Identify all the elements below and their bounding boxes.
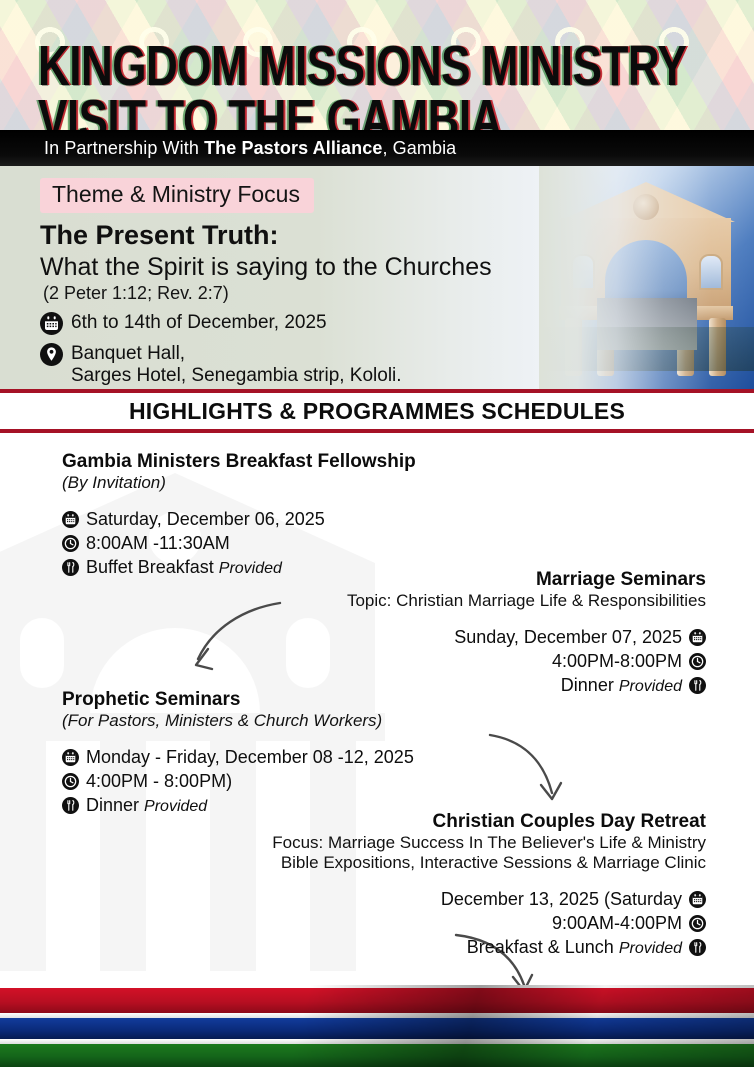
flyer-title-line-1: KINGDOM MISSIONS MINISTRY [38, 40, 686, 94]
programme-time: 9:00AM-4:00PM [552, 913, 682, 934]
clock-icon [689, 915, 706, 932]
partnership-text: In Partnership With The Pastors Alliance… [44, 138, 456, 159]
programme-title: Marriage Seminars [347, 569, 706, 591]
programme-date: Sunday, December 07, 2025 [454, 627, 682, 648]
cutlery-icon [689, 939, 706, 956]
calendar-icon [62, 749, 79, 766]
theme-venue-row: Banquet Hall,Sarges Hotel, Senegambia st… [40, 343, 492, 387]
clock-icon [689, 653, 706, 670]
programme-date-row: Monday - Friday, December 08 -12, 2025 [62, 747, 414, 768]
flag-fabric-shading [0, 985, 754, 1067]
programme-time: 4:00PM-8:00PM [552, 651, 682, 672]
calendar-icon [689, 891, 706, 908]
theme-date: 6th to 14th of December, 2025 [71, 312, 327, 334]
theme-venue: Banquet Hall,Sarges Hotel, Senegambia st… [71, 343, 402, 387]
arch22-photo [539, 166, 754, 389]
event-flyer: KINGDOM MISSIONS MINISTRY VISIT TO THE G… [0, 0, 754, 1080]
calendar-icon [689, 629, 706, 646]
programme-date-row: December 13, 2025 (Saturday [272, 889, 706, 910]
meal-note: Provided [219, 560, 282, 577]
curved-arrow-icon [486, 729, 596, 819]
programme-meal: Dinner Provided [561, 675, 682, 696]
clock-icon [62, 773, 79, 790]
partnership-prefix: In Partnership With [44, 138, 204, 158]
programme-date: Monday - Friday, December 08 -12, 2025 [86, 747, 414, 768]
programme-block-couples-retreat: Christian Couples Day Retreat Focus: Mar… [272, 811, 706, 958]
programme-block-breakfast-fellowship: Gambia Ministers Breakfast Fellowship (B… [62, 451, 416, 578]
programme-title: Christian Couples Day Retreat [272, 811, 706, 833]
programme-block-marriage-seminars: Marriage Seminars Topic: Christian Marri… [347, 569, 706, 696]
clock-icon [62, 535, 79, 552]
flyer-title-line-2: VISIT TO THE GAMBIA [38, 94, 686, 130]
programme-title: Gambia Ministers Breakfast Fellowship [62, 451, 416, 473]
meal-label: Buffet Breakfast [86, 557, 214, 577]
cutlery-icon [62, 559, 79, 576]
flyer-header: KINGDOM MISSIONS MINISTRY VISIT TO THE G… [0, 0, 754, 130]
theme-badge: Theme & Ministry Focus [40, 178, 314, 213]
programme-subtitle: Topic: Christian Marriage Life & Respons… [347, 591, 706, 611]
partnership-bar: In Partnership With The Pastors Alliance… [0, 130, 754, 166]
photo-fade-overlay [539, 166, 754, 389]
venue-line-1: Banquet Hall, [71, 343, 185, 364]
programme-time-row: 9:00AM-4:00PM [272, 913, 706, 934]
meal-note: Provided [619, 678, 682, 695]
cutlery-icon [62, 797, 79, 814]
section-header: HIGHLIGHTS & PROGRAMMES SCHEDULES [0, 393, 754, 429]
programme-time: 8:00AM -11:30AM [86, 533, 230, 554]
programme-date: Saturday, December 06, 2025 [86, 509, 325, 530]
theme-panel: Theme & Ministry Focus The Present Truth… [0, 166, 754, 389]
programme-subtitle-secondary: Bible Expositions, Interactive Sessions … [272, 853, 706, 873]
programme-subtitle: Focus: Marriage Success In The Believer'… [272, 833, 706, 853]
flyer-title: KINGDOM MISSIONS MINISTRY VISIT TO THE G… [38, 40, 686, 130]
programme-subtitle: (By Invitation) [62, 473, 416, 493]
programme-time-row: 8:00AM -11:30AM [62, 533, 416, 554]
cutlery-icon [689, 677, 706, 694]
calendar-icon [62, 511, 79, 528]
gambia-flag-footer [0, 985, 754, 1067]
meal-label: Dinner [86, 795, 139, 815]
theme-scripture-reference: (2 Peter 1:12; Rev. 2:7) [43, 283, 492, 304]
programme-meal: Dinner Provided [86, 795, 207, 816]
meal-label: Dinner [561, 675, 614, 695]
programme-time: 4:00PM - 8:00PM) [86, 771, 232, 792]
programmes-body: Gambia Ministers Breakfast Fellowship (B… [0, 433, 754, 985]
programme-time-row: 4:00PM - 8:00PM) [62, 771, 414, 792]
map-pin-icon [40, 343, 63, 366]
programme-blocks: Gambia Ministers Breakfast Fellowship (B… [0, 433, 754, 985]
curved-arrow-icon [180, 597, 290, 682]
theme-content: Theme & Ministry Focus The Present Truth… [40, 178, 492, 387]
calendar-icon [40, 312, 63, 335]
venue-line-2: Sarges Hotel, Senegambia strip, Kololi. [71, 365, 402, 386]
theme-heading: The Present Truth: [40, 220, 492, 251]
programme-date: December 13, 2025 (Saturday [441, 889, 682, 910]
programme-meal: Buffet Breakfast Provided [86, 557, 282, 578]
partnership-organisation: The Pastors Alliance [204, 138, 382, 158]
programme-time-row: 4:00PM-8:00PM [347, 651, 706, 672]
meal-note: Provided [144, 798, 207, 815]
programme-date-row: Saturday, December 06, 2025 [62, 509, 416, 530]
theme-subheading: What the Spirit is saying to the Churche… [40, 253, 492, 282]
theme-date-row: 6th to 14th of December, 2025 [40, 312, 492, 335]
programme-meal-row: Breakfast & Lunch Provided [272, 937, 706, 958]
section-title: HIGHLIGHTS & PROGRAMMES SCHEDULES [129, 398, 625, 425]
partnership-suffix: , Gambia [382, 138, 456, 158]
meal-note: Provided [619, 940, 682, 957]
programme-block-prophetic-seminars: Prophetic Seminars (For Pastors, Ministe… [62, 689, 414, 816]
programme-title: Prophetic Seminars [62, 689, 414, 711]
programme-subtitle: (For Pastors, Ministers & Church Workers… [62, 711, 414, 731]
programme-date-row: Sunday, December 07, 2025 [347, 627, 706, 648]
programme-meal: Breakfast & Lunch Provided [467, 937, 682, 958]
meal-label: Breakfast & Lunch [467, 937, 614, 957]
